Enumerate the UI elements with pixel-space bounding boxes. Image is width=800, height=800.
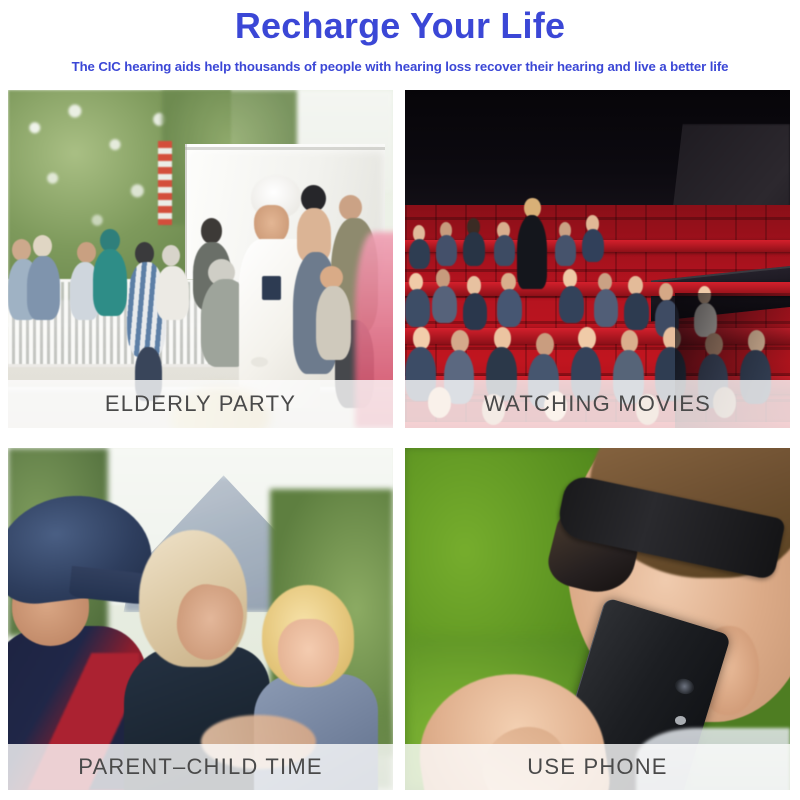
- card-caption: WATCHING MOVIES: [484, 391, 711, 417]
- product-feature-page: Recharge Your Life The CIC hearing aids …: [0, 0, 800, 800]
- feature-card-parent-child-time[interactable]: PARENT–CHILD TIME: [8, 448, 393, 790]
- page-subtitle: The CIC hearing aids help thousands of p…: [0, 57, 800, 77]
- photo-watching-movies: [405, 90, 790, 428]
- feature-card-elderly-party[interactable]: ELDERLY PARTY: [8, 90, 393, 428]
- feature-card-watching-movies[interactable]: WATCHING MOVIES: [405, 90, 790, 428]
- caption-band: ELDERLY PARTY: [8, 380, 393, 428]
- feature-card-use-phone[interactable]: USE PHONE: [405, 448, 790, 790]
- caption-band: USE PHONE: [405, 744, 790, 790]
- page-header: Recharge Your Life The CIC hearing aids …: [0, 0, 800, 77]
- feature-image-grid: ELDERLY PARTY: [8, 90, 794, 790]
- card-caption: PARENT–CHILD TIME: [78, 754, 323, 780]
- card-caption: USE PHONE: [527, 754, 667, 780]
- card-caption: ELDERLY PARTY: [105, 391, 296, 417]
- caption-band: WATCHING MOVIES: [405, 380, 790, 428]
- caption-band: PARENT–CHILD TIME: [8, 744, 393, 790]
- photo-use-phone: [405, 448, 790, 790]
- photo-elderly-party: [8, 90, 393, 428]
- photo-parent-child-time: [8, 448, 393, 790]
- page-title: Recharge Your Life: [0, 4, 800, 48]
